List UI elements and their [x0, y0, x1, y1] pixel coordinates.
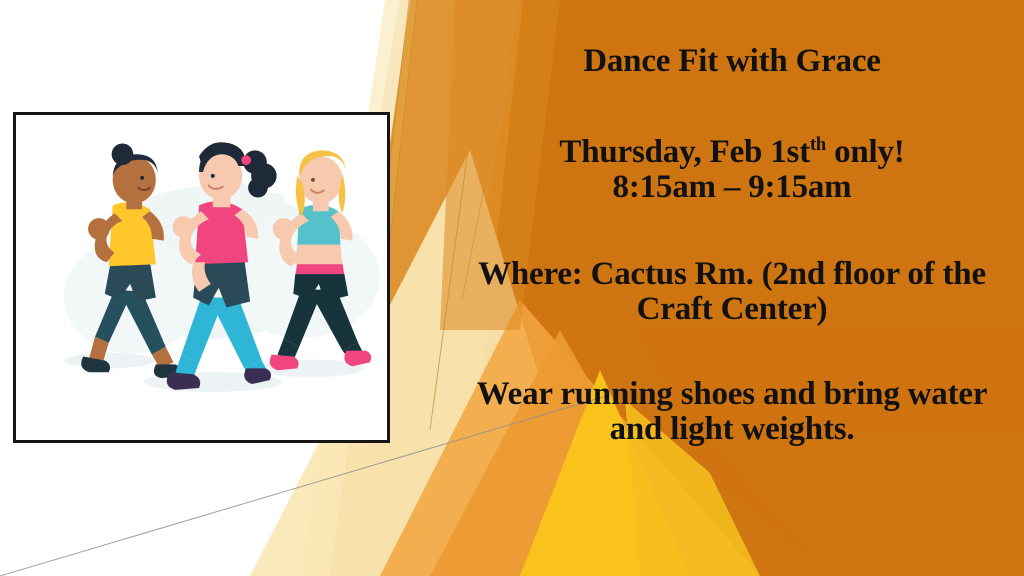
- date-text: Thursday, Feb 1st: [559, 134, 810, 170]
- page-title: Dance Fit with Grace: [452, 44, 1012, 79]
- date-ordinal-suffix: th: [810, 134, 826, 154]
- slide-canvas: Dance Fit with Grace Thursday, Feb 1stth…: [0, 0, 1024, 576]
- text-column: Dance Fit with Grace Thursday, Feb 1stth…: [452, 0, 1012, 576]
- dancers-illustration: [16, 115, 387, 440]
- bring-line: Wear running shoes and bring water and l…: [452, 377, 1012, 447]
- photo-frame: [13, 112, 390, 443]
- date-line: Thursday, Feb 1stth only!: [452, 135, 1012, 170]
- time-line: 8:15am – 9:15am: [452, 170, 1012, 205]
- where-line: Where: Cactus Rm. (2nd floor of the Craf…: [452, 257, 1012, 327]
- date-only-suffix: only!: [826, 134, 905, 170]
